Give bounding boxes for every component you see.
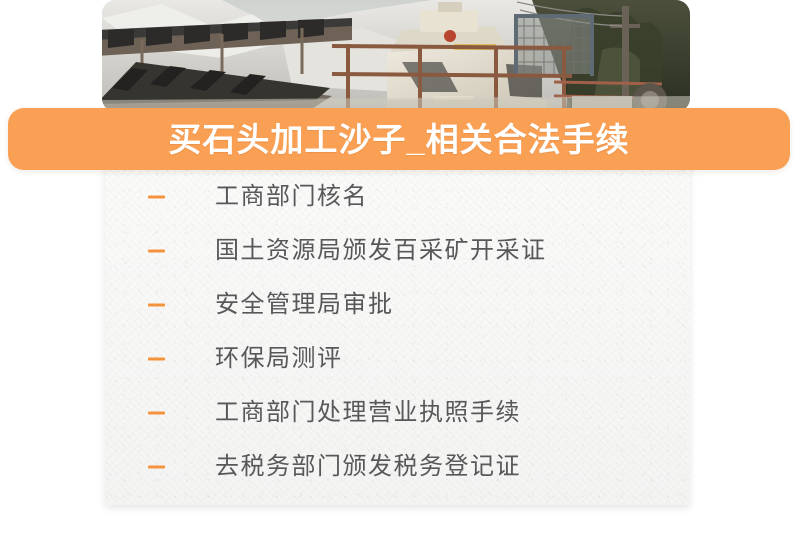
list-item: 国土资源局颁发百采矿开采证 [105, 224, 690, 278]
page-title: 买石头加工沙子_相关合法手续 [168, 123, 629, 156]
list-item: 工商部门核名 [105, 170, 690, 224]
list-item-label: 工商部门核名 [215, 185, 368, 209]
list-item-label: 环保局测评 [215, 347, 343, 371]
list-item-label: 去税务部门颁发税务登记证 [215, 455, 521, 479]
dash-bullet-icon [148, 358, 165, 361]
title-banner: 买石头加工沙子_相关合法手续 [8, 108, 790, 170]
list-item: 工商部门处理营业执照手续 [105, 386, 690, 440]
sand-plant-photo-illustration [102, 0, 690, 112]
dash-bullet-icon [148, 412, 165, 415]
hero-photo [102, 0, 690, 112]
list-item-label: 国土资源局颁发百采矿开采证 [215, 239, 547, 263]
list-item: 环保局测评 [105, 332, 690, 386]
list-item-label: 工商部门处理营业执照手续 [215, 401, 521, 425]
list-item: 安全管理局审批 [105, 278, 690, 332]
procedure-checklist: 工商部门核名 国土资源局颁发百采矿开采证 安全管理局审批 环保局测评 工商部门处… [105, 170, 690, 500]
list-item: 去税务部门颁发税务登记证 [105, 440, 690, 494]
dash-bullet-icon [148, 466, 165, 469]
dash-bullet-icon [148, 304, 165, 307]
infographic-page: 买石头加工沙子_相关合法手续 工商部门核名 国土资源局颁发百采矿开采证 安全管理… [0, 0, 800, 544]
dash-bullet-icon [148, 250, 165, 253]
dash-bullet-icon [148, 196, 165, 199]
list-item-label: 安全管理局审批 [215, 293, 394, 317]
